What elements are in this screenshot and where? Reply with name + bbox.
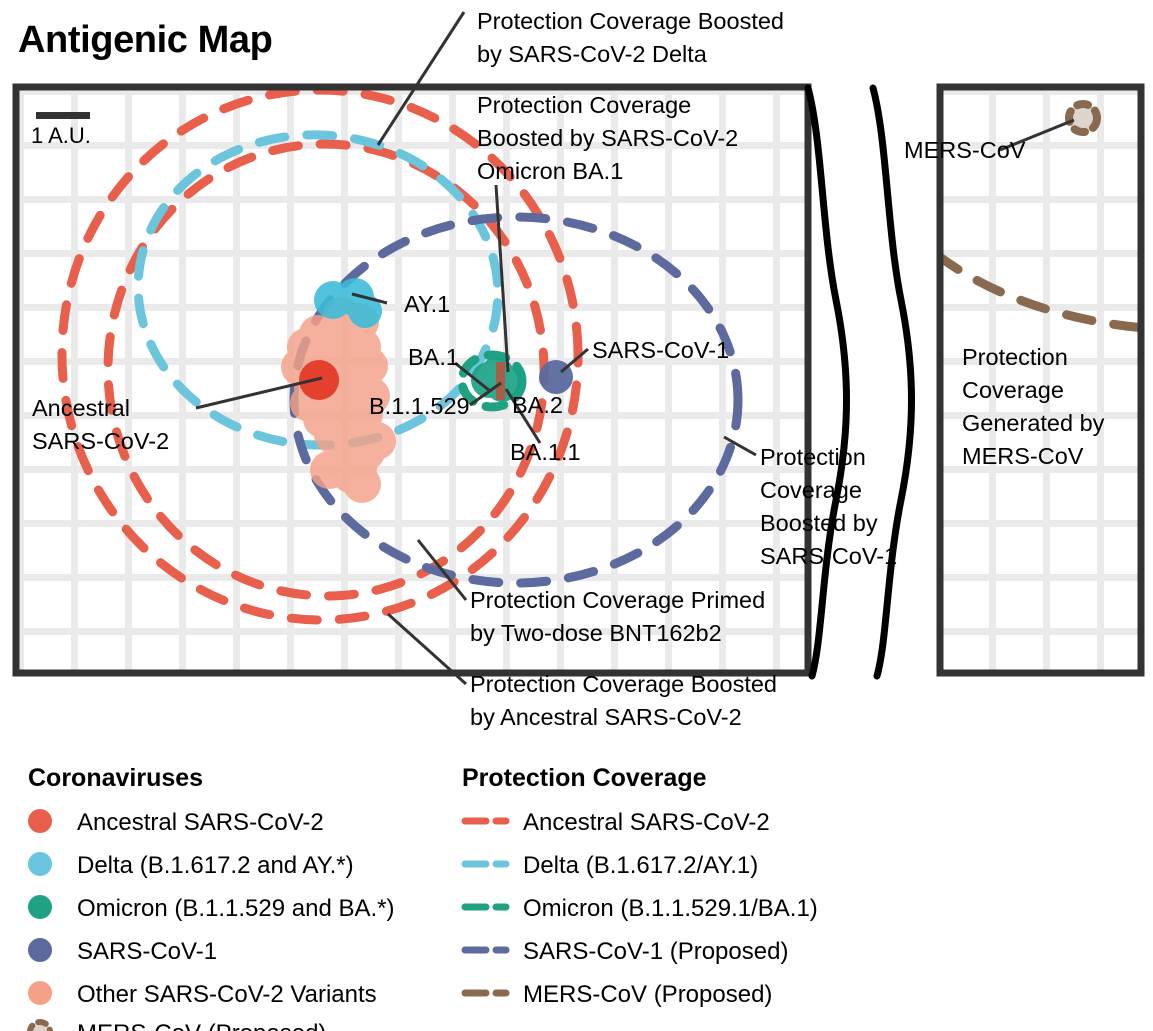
main-panel: 1 A.U.: [16, 73, 808, 673]
legend-item-label: Other SARS-CoV-2 Variants: [77, 981, 377, 1008]
legend-item[interactable]: MERS-CoV (Proposed): [30, 1020, 326, 1031]
annotation-line: Protection: [760, 444, 866, 470]
legend-swatch-dot: [28, 809, 52, 833]
scale-bar-label: 1 A.U.: [31, 123, 91, 148]
annotation-line: Coverage: [760, 477, 862, 503]
legend-swatch-dot: [28, 852, 52, 876]
legend-item-label: SARS-CoV-1 (Proposed): [523, 938, 788, 965]
annotation-line: by Two-dose BNT162b2: [470, 620, 722, 646]
label-ba2: BA.2: [512, 392, 563, 418]
legend-item-label: MERS-CoV (Proposed): [77, 1020, 326, 1031]
label-b11529: B.1.1.529: [369, 393, 470, 419]
main-grid: [16, 87, 808, 673]
annotation-line: Generated by: [962, 410, 1105, 436]
legend-swatch-dot: [28, 981, 52, 1005]
legend-item[interactable]: Omicron (B.1.1.529 and BA.*): [28, 895, 394, 922]
legend-item[interactable]: MERS-CoV (Proposed): [465, 981, 772, 1008]
legend-item-label: Ancestral SARS-CoV-2: [77, 809, 324, 836]
annotation-line: Omicron BA.1: [477, 158, 623, 184]
page-title: Antigenic Map: [18, 19, 272, 61]
annotation-line: Protection Coverage: [477, 92, 691, 118]
label-ay1: AY.1: [404, 291, 450, 317]
annotation-line: Protection: [962, 344, 1068, 370]
annotation-line: Boosted by: [760, 510, 878, 536]
legend-viruses-heading: Coronaviruses: [28, 764, 203, 792]
annotation-line: Protection Coverage Primed: [470, 587, 765, 613]
annotation-line: Boosted by SARS-CoV-2: [477, 125, 738, 151]
omicron-overlap-marker: [496, 362, 505, 400]
annotation-boosted-delta: Protection Coverage Boosted by SARS-CoV-…: [477, 8, 784, 67]
label-line: Ancestral: [32, 395, 130, 421]
legend-item[interactable]: Other SARS-CoV-2 Variants: [28, 981, 377, 1008]
legend-item[interactable]: Delta (B.1.617.2/AY.1): [465, 852, 758, 879]
legend-item-label: Delta (B.1.617.2 and AY.*): [77, 852, 354, 879]
label-sars-cov-1: SARS-CoV-1: [592, 337, 729, 363]
legend-protection-coverage: Protection Coverage Ancestral SARS-CoV-2…: [462, 764, 818, 1008]
legend-swatch-dot: [28, 938, 52, 962]
legend-item[interactable]: SARS-CoV-1: [28, 938, 217, 965]
legend-item[interactable]: Delta (B.1.617.2 and AY.*): [28, 852, 354, 879]
annotation-line: MERS-CoV: [962, 443, 1084, 469]
legend-swatch-dot: [28, 895, 52, 919]
annotation-boosted-ancestral: Protection Coverage Boosted by Ancestral…: [470, 671, 777, 730]
label-ba1: BA.1: [408, 344, 459, 370]
annotation-line: by SARS-CoV-2 Delta: [477, 41, 708, 67]
legend-item[interactable]: Omicron (B.1.1.529.1/BA.1): [465, 895, 818, 922]
point-mers-cov: [1069, 104, 1097, 132]
annotation-line: by Ancestral SARS-CoV-2: [470, 704, 742, 730]
scale-bar: 1 A.U.: [31, 112, 91, 148]
legend-item[interactable]: SARS-CoV-1 (Proposed): [465, 938, 788, 965]
legend-item-label: MERS-CoV (Proposed): [523, 981, 772, 1008]
legend-coverage-heading: Protection Coverage: [462, 764, 707, 792]
antigenic-map-figure: Antigenic Map: [0, 0, 1153, 1031]
legend-item-label: Delta (B.1.617.2/AY.1): [523, 852, 758, 879]
label-ba11: BA.1.1: [510, 439, 581, 465]
legend-coronaviruses: Coronaviruses Ancestral SARS-CoV-2 Delta…: [28, 764, 394, 1031]
annotation-line: Protection Coverage Boosted: [477, 8, 784, 34]
legend-item-label: SARS-CoV-1: [77, 938, 217, 965]
legend-swatch-dashed-ring: [30, 1022, 50, 1031]
annotation-line: Protection Coverage Boosted: [470, 671, 777, 697]
annotation-line: SARS-CoV-1: [760, 543, 897, 569]
legend-item-label: Omicron (B.1.1.529 and BA.*): [77, 895, 394, 922]
legend-item[interactable]: Ancestral SARS-CoV-2: [28, 809, 324, 836]
scale-bar-line: [36, 112, 90, 119]
label-mers-cov: MERS-CoV: [904, 137, 1026, 163]
annotation-line: Coverage: [962, 377, 1064, 403]
label-line: SARS-CoV-2: [32, 428, 169, 454]
legend-item[interactable]: Ancestral SARS-CoV-2: [465, 809, 770, 836]
legend-item-label: Ancestral SARS-CoV-2: [523, 809, 770, 836]
legend-item-label: Omicron (B.1.1.529.1/BA.1): [523, 895, 818, 922]
axis-break: [808, 88, 912, 676]
